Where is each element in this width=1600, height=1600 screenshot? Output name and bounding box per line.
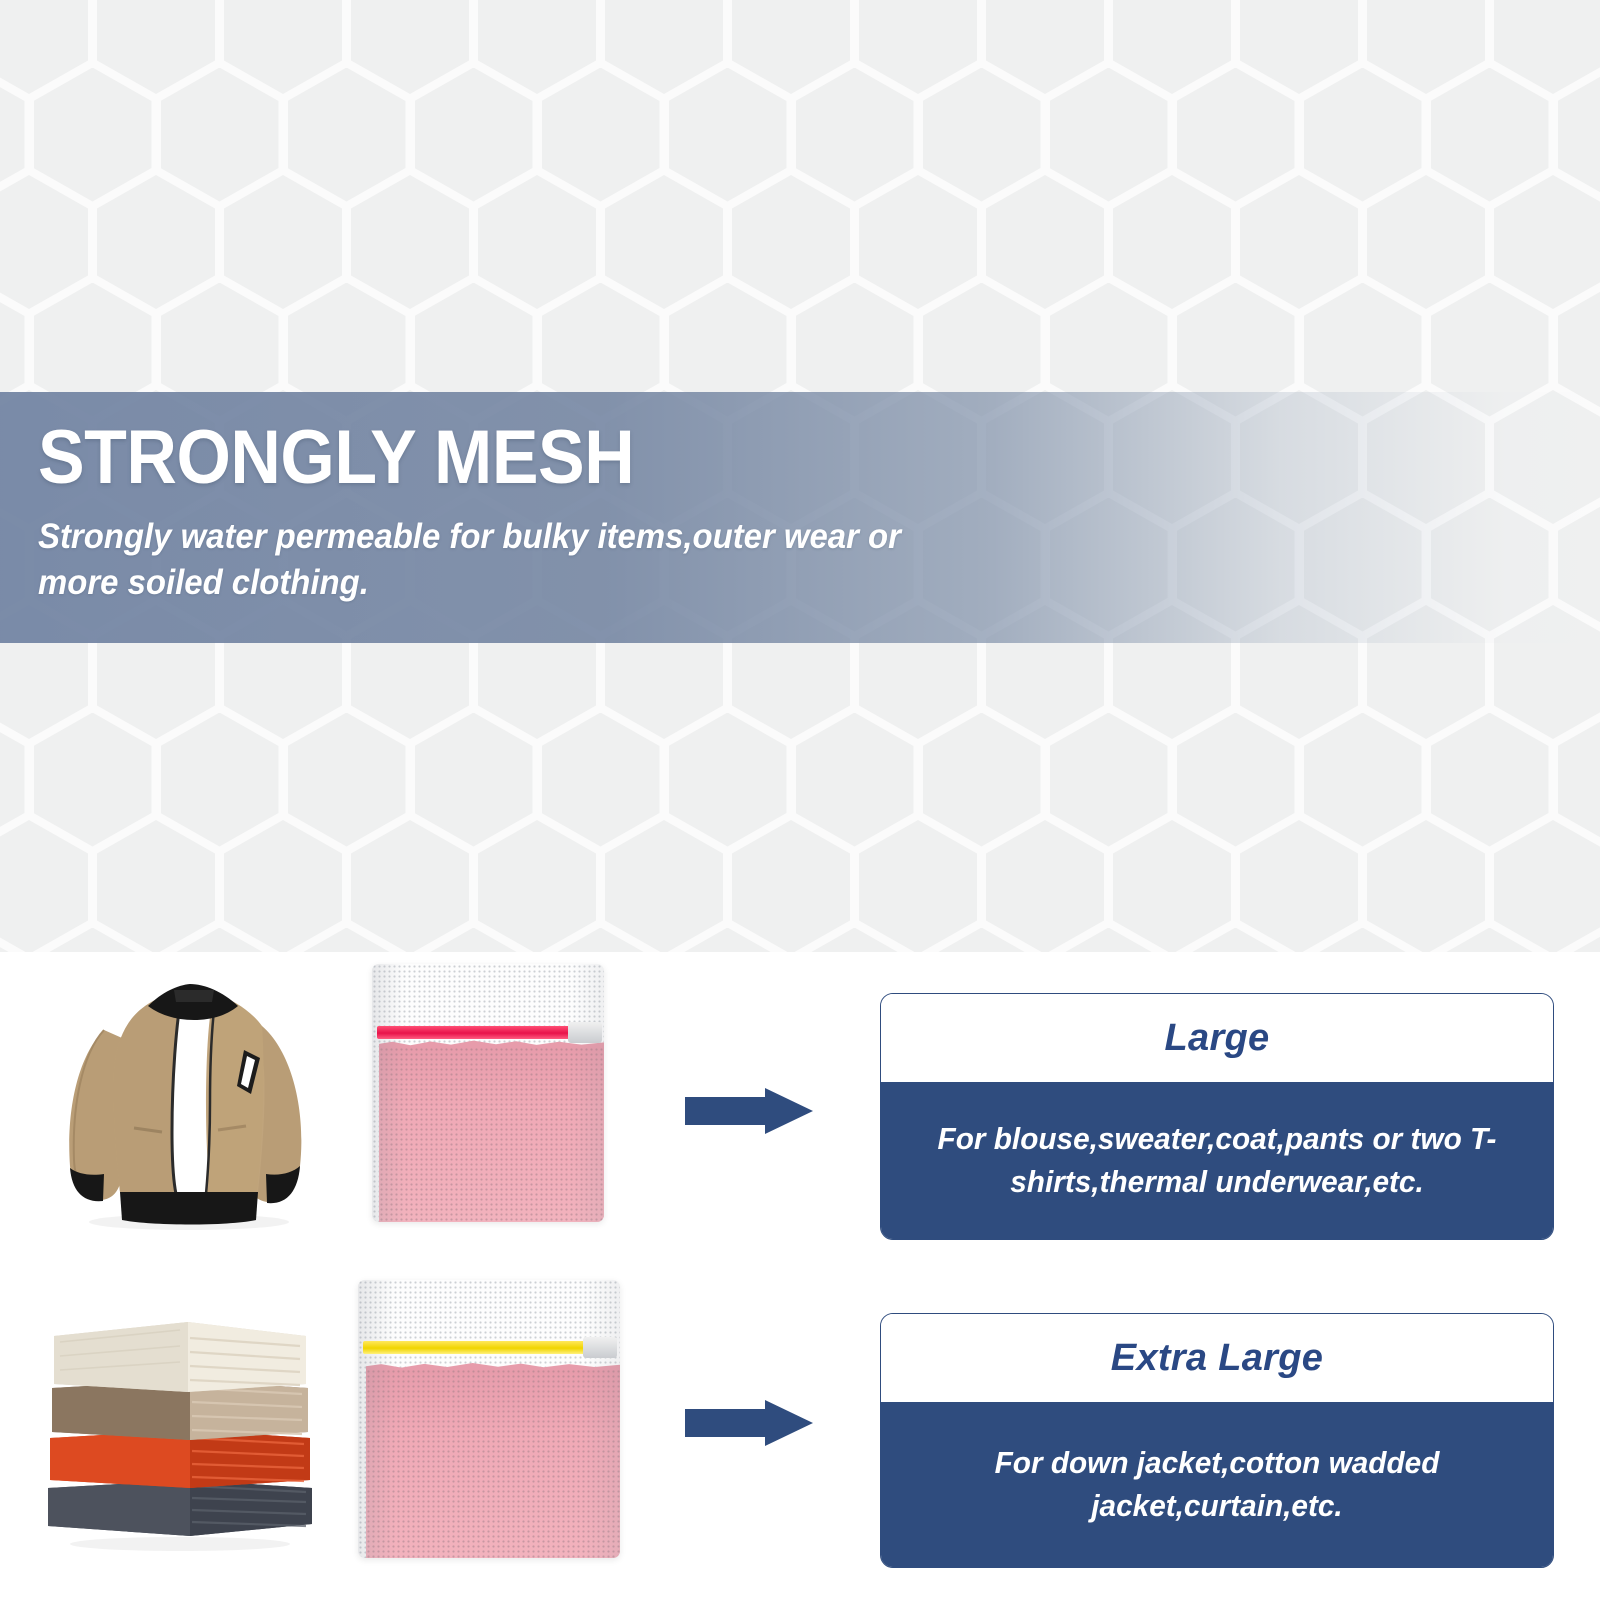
- size-row-extra-large: Extra Large For down jacket,cotton wadde…: [0, 1270, 1600, 1570]
- size-card-header: Large: [881, 994, 1553, 1082]
- size-card-extra-large: Extra Large For down jacket,cotton wadde…: [880, 1313, 1554, 1568]
- size-card-body: For down jacket,cotton wadded jacket,cur…: [881, 1402, 1553, 1567]
- bag-zipper-yellow: [363, 1341, 615, 1354]
- size-card-title: Extra Large: [1111, 1337, 1323, 1380]
- zipper-pull-icon: [583, 1337, 617, 1358]
- bag-body: [358, 1280, 620, 1558]
- size-card-title: Large: [1165, 1017, 1270, 1060]
- size-card-body: For blouse,sweater,coat,pants or two T-s…: [881, 1082, 1553, 1239]
- bag-body: [372, 964, 604, 1222]
- size-card-description: For down jacket,cotton wadded jacket,cur…: [919, 1442, 1514, 1528]
- honeycomb-hero-section: STRONGLY MESH Strongly water permeable f…: [0, 0, 1600, 952]
- size-card-header: Extra Large: [881, 1314, 1553, 1402]
- khaki-bomber-jacket-icon: [48, 960, 330, 1232]
- right-arrow-icon: [685, 1088, 813, 1134]
- mesh-laundry-bag-extra-large: [358, 1280, 620, 1558]
- size-guide-panel: Large For blouse,sweater,coat,pants or t…: [0, 952, 1600, 1600]
- product-infographic: STRONGLY MESH Strongly water permeable f…: [0, 0, 1600, 1600]
- right-arrow-icon: [685, 1400, 813, 1446]
- banner-strip: STRONGLY MESH Strongly water permeable f…: [0, 392, 1600, 643]
- stacked-folded-blankets-icon: [30, 1292, 330, 1552]
- arrow-head: [765, 1088, 813, 1134]
- arrow-head: [765, 1400, 813, 1446]
- bag-shading: [372, 964, 604, 1222]
- bag-shading: [358, 1280, 620, 1558]
- size-card-description: For blouse,sweater,coat,pants or two T-s…: [919, 1118, 1514, 1204]
- arrow-shaft: [685, 1097, 771, 1125]
- size-row-large: Large For blouse,sweater,coat,pants or t…: [0, 960, 1600, 1260]
- mesh-laundry-bag-large: [372, 964, 604, 1222]
- size-card-large: Large For blouse,sweater,coat,pants or t…: [880, 993, 1554, 1240]
- zipper-pull-icon: [568, 1022, 602, 1043]
- bag-zipper-pink: [377, 1026, 600, 1039]
- banner-title: STRONGLY MESH: [38, 414, 634, 501]
- banner-subtitle: Strongly water permeable for bulky items…: [38, 514, 978, 606]
- arrow-shaft: [685, 1409, 771, 1437]
